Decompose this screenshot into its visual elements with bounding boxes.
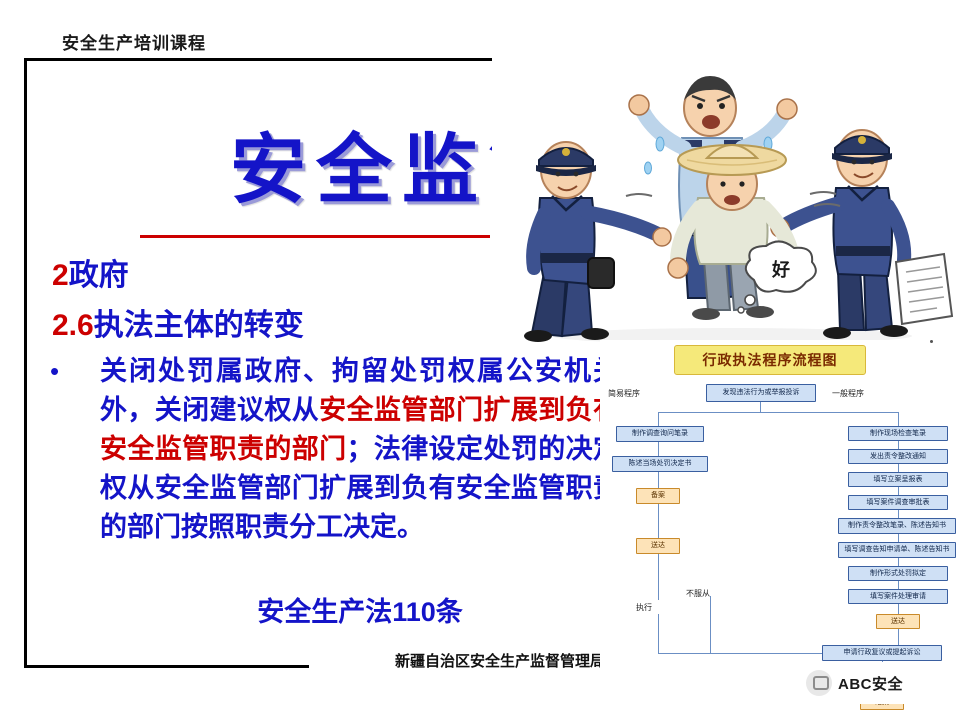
cartoon-svg: 好 bbox=[492, 48, 960, 348]
flowchart-node-right-8: 填写案件处理审请 bbox=[848, 589, 948, 604]
flowchart-connector bbox=[658, 614, 659, 653]
flowchart-title: 行政执法程序流程图 bbox=[674, 345, 866, 375]
flowchart-connector bbox=[658, 504, 659, 538]
title-divider-rule bbox=[140, 235, 490, 238]
flowchart-connector bbox=[898, 534, 899, 542]
flowchart-node-left-2: 陈述当场处罚决定书 bbox=[612, 456, 708, 472]
flowchart-left-column-label: 简易程序 bbox=[608, 388, 640, 399]
flowchart-connector bbox=[658, 412, 659, 426]
heading-1-number: 2 bbox=[52, 259, 69, 292]
flowchart-connector bbox=[658, 472, 659, 488]
flowchart-connector bbox=[658, 554, 659, 600]
stray-dot-mark bbox=[930, 340, 933, 343]
flowchart-node-bottom-1: 申请行政复议或提起诉讼 bbox=[822, 645, 942, 661]
flowchart-connector bbox=[898, 487, 899, 495]
flowchart-node-start: 发现违法行为或举报投诉 bbox=[706, 384, 816, 402]
flowchart-right-column-label: 一般程序 bbox=[832, 388, 864, 399]
heading-1-text: 政府 bbox=[69, 259, 129, 292]
flowchart-node-right-9: 送达 bbox=[876, 614, 920, 629]
watermark-label: ABC安全 bbox=[838, 673, 903, 694]
flowchart-connector bbox=[898, 441, 899, 449]
watermark-badge: ABC安全 bbox=[800, 662, 950, 704]
flowchart-connector bbox=[898, 558, 899, 566]
flowchart-connector bbox=[898, 581, 899, 589]
heading-level-1: 2政府 bbox=[52, 250, 129, 294]
flowchart-connector bbox=[760, 402, 761, 412]
flowchart-node-right-2: 发出责令整改通知 bbox=[848, 449, 948, 464]
flowchart-node-right-6: 填写调查告知申请单、陈述告知书 bbox=[838, 542, 956, 558]
heading-2-text: 执法主体的转变 bbox=[94, 309, 304, 342]
flowchart-connector bbox=[898, 604, 899, 614]
flowchart-node-right-4: 填写案件调查审批表 bbox=[848, 495, 948, 510]
flowchart-node-right-3: 填写立案呈报表 bbox=[848, 472, 948, 487]
flowchart-connector bbox=[658, 412, 898, 413]
flowchart-node-left-1: 制作调查询问笔录 bbox=[616, 426, 704, 442]
flowchart-connector bbox=[898, 510, 899, 518]
camera-icon bbox=[806, 670, 832, 696]
flowchart-node-left-3: 备案 bbox=[636, 488, 680, 504]
body-paragraph: 关闭处罚属政府、拘留处罚权属公安机关外，关闭建议权从安全监管部门扩展到负有安全监… bbox=[100, 352, 620, 547]
flowchart-connector bbox=[898, 629, 899, 645]
flowchart-connector bbox=[898, 412, 899, 426]
heading-level-2: 2.6执法主体的转变 bbox=[52, 300, 304, 344]
flowchart-node-left-5: 执行 bbox=[636, 602, 652, 613]
law-reference: 安全生产法110条 bbox=[100, 590, 620, 629]
frame-bottom-border bbox=[24, 665, 309, 668]
flowchart-node-left-6: 不服从 bbox=[686, 588, 710, 599]
bullet-marker: • bbox=[50, 358, 59, 384]
flowchart-node-left-4: 送达 bbox=[636, 538, 680, 554]
flowchart-connector bbox=[658, 653, 822, 654]
frame-left-border bbox=[24, 58, 27, 668]
course-title: 安全生产培训课程 bbox=[62, 29, 206, 54]
svg-text:好: 好 bbox=[771, 259, 790, 281]
heading-2-number: 2.6 bbox=[52, 309, 94, 342]
flowchart-node-right-1: 制作现场检查笔录 bbox=[848, 426, 948, 441]
flowchart-node-right-5: 制作责令整改笔录、陈述告知书 bbox=[838, 518, 956, 534]
slide-canvas: 安全生产培训课程 安全监管 2政府 2.6执法主体的转变 • 关闭处罚属政府、拘… bbox=[0, 0, 960, 720]
flowchart-connector bbox=[710, 596, 711, 653]
flowchart-node-right-7: 制作形式处罚拟定 bbox=[848, 566, 948, 581]
flowchart-connector bbox=[658, 442, 659, 456]
flowchart-connector bbox=[898, 464, 899, 472]
flowchart-figure: 行政执法程序流程图 简易程序 一般程序 发现违法行为或举报投诉 制作调查询问笔录… bbox=[600, 340, 960, 715]
cartoon-illustration: 好 bbox=[492, 48, 960, 348]
